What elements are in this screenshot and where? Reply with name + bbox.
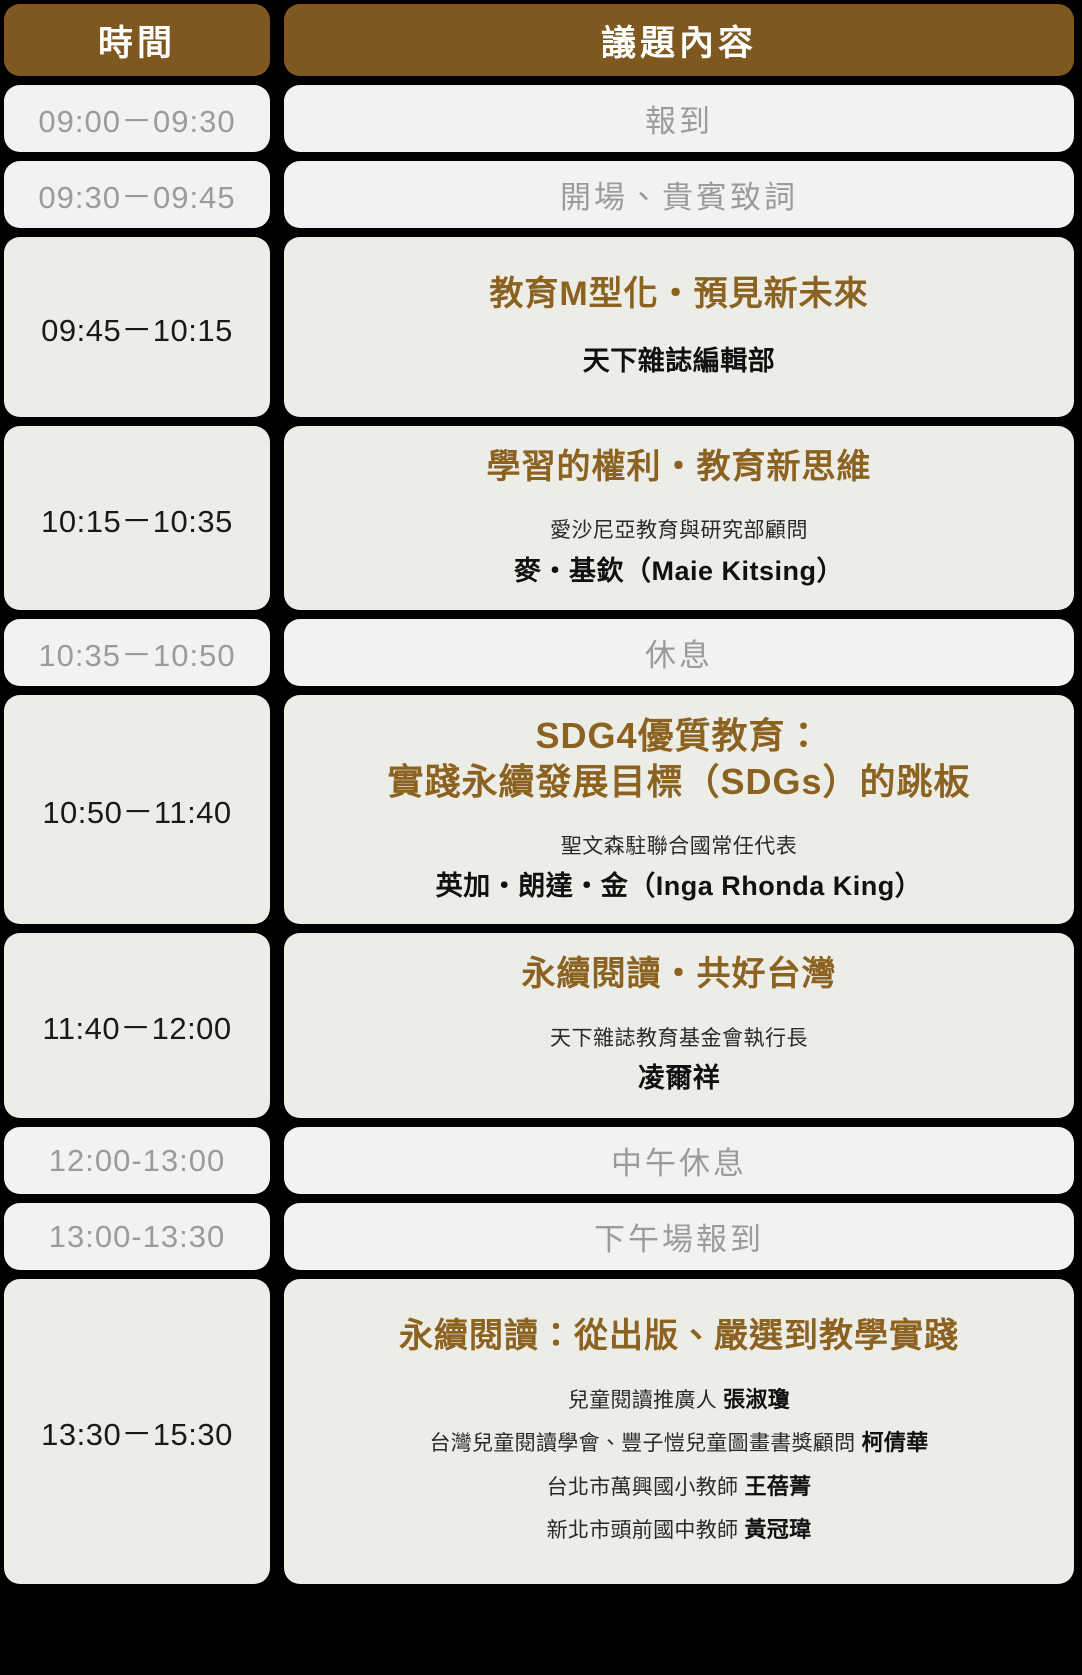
speaker-name: 王蓓菁 bbox=[744, 1474, 811, 1499]
session-title: 教育M型化・預見新未來 bbox=[475, 273, 882, 317]
table-row: 10:35－10:50 休息 bbox=[0, 619, 1082, 686]
table-row: 12:00-13:00 中午休息 bbox=[0, 1127, 1082, 1194]
table-row: 09:30－09:45 開場、貴賓致詞 bbox=[0, 161, 1082, 228]
session-title: 永續閱讀：從出版、嚴選到教學實踐 bbox=[385, 1315, 973, 1359]
session-organization: 天下雜誌教育基金會執行長 bbox=[536, 1023, 822, 1055]
time-cell: 10:35－10:50 bbox=[4, 619, 270, 686]
table-row: 13:00-13:30 下午場報到 bbox=[0, 1203, 1082, 1270]
topic-cell: 中午休息 bbox=[284, 1127, 1074, 1194]
speaker-name: 張淑瓊 bbox=[723, 1387, 790, 1412]
topic-cell: 報到 bbox=[284, 85, 1074, 152]
list-item: 台北市萬興國小教師 王蓓菁 bbox=[429, 1470, 928, 1505]
session-title-line2: 實踐永續發展目標（SDGs）的跳板 bbox=[373, 759, 984, 805]
table-header-row: 時間 議題內容 bbox=[0, 4, 1082, 76]
time-label: 09:30－09:45 bbox=[38, 172, 235, 217]
topic-cell: 教育M型化・預見新未來 天下雜誌編輯部 bbox=[284, 237, 1074, 417]
topic-label: 報到 bbox=[645, 96, 713, 141]
time-label: 10:35－10:50 bbox=[38, 630, 235, 675]
speaker-name: 黃冠瑋 bbox=[744, 1517, 811, 1542]
topic-cell: 休息 bbox=[284, 619, 1074, 686]
time-cell: 13:30－15:30 bbox=[4, 1279, 270, 1584]
time-label: 10:50－11:40 bbox=[42, 787, 231, 832]
time-cell: 10:15－10:35 bbox=[4, 426, 270, 610]
speaker-organization: 台北市萬興國小教師 bbox=[547, 1476, 739, 1499]
table-row: 10:15－10:35 學習的權利・教育新思維 愛沙尼亞教育與研究部顧問 麥・基… bbox=[0, 426, 1082, 610]
time-label: 11:40－12:00 bbox=[42, 1003, 231, 1048]
header-time-label: 時間 bbox=[98, 15, 176, 66]
topic-label: 中午休息 bbox=[611, 1138, 747, 1183]
time-cell: 09:45－10:15 bbox=[4, 237, 270, 417]
session-title-line1: SDG4優質教育： bbox=[521, 713, 836, 759]
session-speaker: 天下雜誌編輯部 bbox=[569, 343, 790, 381]
time-label: 13:00-13:30 bbox=[49, 1219, 225, 1255]
list-item: 台灣兒童閱讀學會、豐子愷兒童圖畫書獎顧問 柯倩華 bbox=[429, 1426, 928, 1461]
speaker-organization: 兒童閱讀推廣人 bbox=[568, 1389, 717, 1412]
topic-label: 休息 bbox=[645, 630, 713, 675]
time-label: 09:00－09:30 bbox=[38, 96, 235, 141]
topic-label: 開場、貴賓致詞 bbox=[560, 172, 798, 217]
header-topic-label: 議題內容 bbox=[601, 15, 757, 66]
topic-cell: 永續閱讀：從出版、嚴選到教學實踐 兒童閱讀推廣人 張淑瓊 台灣兒童閱讀學會、豐子… bbox=[284, 1279, 1074, 1584]
time-cell: 09:30－09:45 bbox=[4, 161, 270, 228]
speaker-organization: 台灣兒童閱讀學會、豐子愷兒童圖畫書獎顧問 bbox=[429, 1432, 855, 1455]
list-item: 兒童閱讀推廣人 張淑瓊 bbox=[429, 1383, 928, 1418]
table-row: 11:40－12:00 永續閱讀・共好台灣 天下雜誌教育基金會執行長 凌爾祥 bbox=[0, 933, 1082, 1118]
topic-cell: 永續閱讀・共好台灣 天下雜誌教育基金會執行長 凌爾祥 bbox=[284, 933, 1074, 1118]
speaker-name: 柯倩華 bbox=[862, 1430, 929, 1455]
speaker-organization: 新北市頭前國中教師 bbox=[547, 1519, 739, 1542]
session-title: 永續閱讀・共好台灣 bbox=[508, 953, 851, 997]
session-organization: 聖文森駐聯合國常任代表 bbox=[547, 831, 812, 863]
time-cell: 11:40－12:00 bbox=[4, 933, 270, 1118]
session-organization: 愛沙尼亞教育與研究部顧問 bbox=[536, 515, 822, 547]
time-cell: 09:00－09:30 bbox=[4, 85, 270, 152]
table-row: 13:30－15:30 永續閱讀：從出版、嚴選到教學實踐 兒童閱讀推廣人 張淑瓊… bbox=[0, 1279, 1082, 1584]
time-label: 10:15－10:35 bbox=[41, 496, 233, 541]
session-speaker: 凌爾祥 bbox=[624, 1060, 735, 1098]
time-cell: 12:00-13:00 bbox=[4, 1127, 270, 1194]
table-row: 09:00－09:30 報到 bbox=[0, 85, 1082, 152]
session-speaker-list: 兒童閱讀推廣人 張淑瓊 台灣兒童閱讀學會、豐子愷兒童圖畫書獎顧問 柯倩華 台北市… bbox=[429, 1383, 928, 1548]
time-label: 13:30－15:30 bbox=[41, 1409, 233, 1454]
topic-label: 下午場報到 bbox=[594, 1214, 764, 1259]
header-cell-time: 時間 bbox=[4, 4, 270, 76]
schedule-table: 時間 議題內容 09:00－09:30 報到 09:30－09:45 開場、貴賓… bbox=[0, 0, 1082, 1675]
table-row: 09:45－10:15 教育M型化・預見新未來 天下雜誌編輯部 bbox=[0, 237, 1082, 417]
topic-cell: 學習的權利・教育新思維 愛沙尼亞教育與研究部顧問 麥・基欽（Maie Kitsi… bbox=[284, 426, 1074, 610]
header-cell-topic: 議題內容 bbox=[284, 4, 1074, 76]
session-speaker: 英加・朗達・金（Inga Rhonda King） bbox=[422, 868, 936, 906]
table-row: 10:50－11:40 SDG4優質教育： 實踐永續發展目標（SDGs）的跳板 … bbox=[0, 695, 1082, 924]
time-label: 09:45－10:15 bbox=[41, 305, 233, 350]
session-title: 學習的權利・教育新思維 bbox=[473, 446, 886, 490]
time-label: 12:00-13:00 bbox=[49, 1143, 225, 1179]
topic-cell: SDG4優質教育： 實踐永續發展目標（SDGs）的跳板 聖文森駐聯合國常任代表 … bbox=[284, 695, 1074, 924]
time-cell: 13:00-13:30 bbox=[4, 1203, 270, 1270]
topic-cell: 下午場報到 bbox=[284, 1203, 1074, 1270]
session-speaker: 麥・基欽（Maie Kitsing） bbox=[500, 553, 858, 591]
list-item: 新北市頭前國中教師 黃冠瑋 bbox=[429, 1513, 928, 1548]
topic-cell: 開場、貴賓致詞 bbox=[284, 161, 1074, 228]
time-cell: 10:50－11:40 bbox=[4, 695, 270, 924]
